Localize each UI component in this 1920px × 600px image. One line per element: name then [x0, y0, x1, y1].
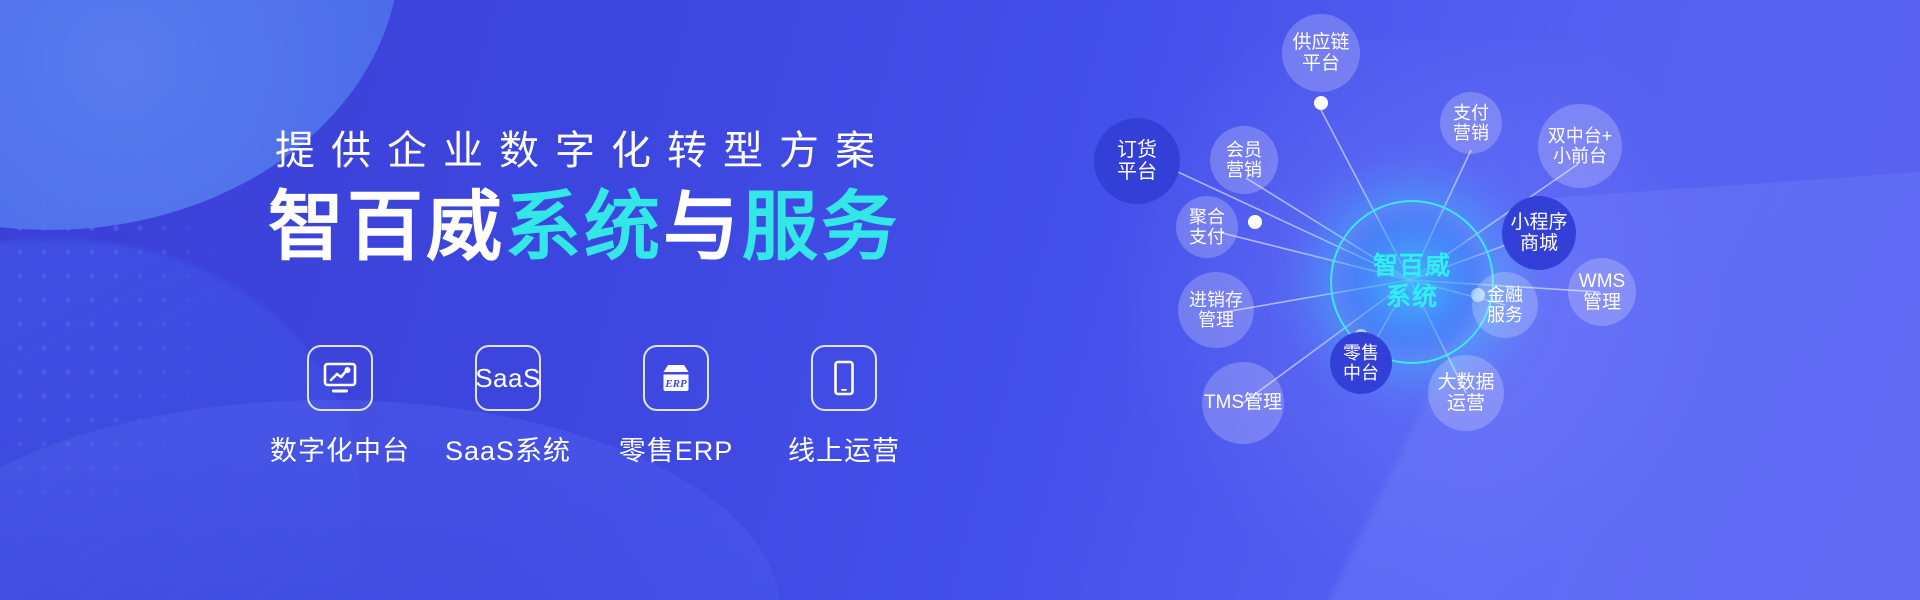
diagram-node[interactable]: 零售中台: [1330, 332, 1392, 394]
diagram-node-label: 小程序商城: [1510, 212, 1567, 255]
feature-icon-box: [307, 345, 373, 411]
saas-text-icon: SaaS: [475, 363, 541, 394]
feature-label: 数字化中台: [270, 429, 410, 468]
feature-label: 线上运营: [788, 429, 900, 468]
chart-monitor-icon: [322, 360, 358, 396]
feature-icon-box: SaaS: [475, 345, 541, 411]
diagram-node[interactable]: 金融服务: [1472, 272, 1538, 338]
banner-subtitle: 提供企业数字化转型方案: [275, 118, 891, 176]
connector-dot-aggregate-pay: [1248, 215, 1262, 229]
feature-item-retail-erp[interactable]: ERP 零售ERP: [626, 345, 726, 475]
diagram-node-label: 双中台+小前台: [1548, 126, 1613, 166]
feature-icon-box: [811, 345, 877, 411]
diagram-node[interactable]: 支付营销: [1440, 92, 1502, 154]
feature-item-online-operation[interactable]: 线上运营: [794, 345, 894, 475]
title-part-2: 系统: [505, 185, 663, 270]
feature-label: 零售ERP: [619, 429, 734, 468]
diagram-node[interactable]: 会员营销: [1210, 126, 1278, 194]
diagram-node[interactable]: 双中台+小前台: [1538, 104, 1622, 188]
svg-text:ERP: ERP: [664, 378, 687, 390]
diagram-node-label: 零售中台: [1343, 343, 1379, 383]
feature-icon-box: ERP: [643, 345, 709, 411]
mobile-phone-icon: [829, 359, 859, 397]
title-part-3: 与: [663, 185, 742, 270]
diagram-node-label: 会员营销: [1226, 140, 1262, 180]
diagram-node-label: WMS管理: [1579, 271, 1625, 314]
diagram-node-label: 供应链平台: [1292, 32, 1349, 75]
title-part-4: 服务: [742, 185, 900, 270]
diagram-node[interactable]: 小程序商城: [1502, 196, 1576, 270]
diagram-node-label: 进销存管理: [1189, 290, 1243, 330]
feature-label: SaaS系统: [445, 429, 571, 468]
diagram-node-label: 订货平台: [1117, 139, 1157, 184]
diagram-node[interactable]: WMS管理: [1568, 258, 1636, 326]
diagram-node-label: 聚合支付: [1189, 207, 1225, 247]
feature-item-digital-midend[interactable]: 数字化中台: [290, 345, 390, 475]
diagram-node[interactable]: 供应链平台: [1282, 14, 1360, 92]
headline-block: 提供企业数字化转型方案 智百威系统与服务 数字化中台 SaaS: [0, 0, 1040, 600]
feature-item-saas[interactable]: SaaS SaaS系统: [458, 345, 558, 475]
center-node-label: 智百威系统: [1373, 251, 1451, 314]
diagram-node[interactable]: 订货平台: [1094, 118, 1180, 204]
connector-dot-supply-chain: [1314, 96, 1328, 110]
erp-box-icon: ERP: [657, 360, 695, 396]
diagram-node[interactable]: 进销存管理: [1178, 272, 1254, 348]
title-part-1: 智百威: [268, 185, 505, 270]
system-ecosystem-diagram: 智百威系统 供应链平台订货平台会员营销支付营销双中台+小前台聚合支付小程序商城W…: [1030, 0, 1920, 600]
diagram-node-label: TMS管理: [1204, 392, 1282, 413]
diagram-node-label: 大数据运营: [1437, 372, 1494, 415]
diagram-node[interactable]: 聚合支付: [1176, 196, 1238, 258]
promo-banner: 提供企业数字化转型方案 智百威系统与服务 数字化中台 SaaS: [0, 0, 1920, 600]
diagram-node[interactable]: TMS管理: [1202, 362, 1284, 444]
diagram-node-label: 金融服务: [1487, 285, 1523, 325]
diagram-node[interactable]: 大数据运营: [1428, 355, 1504, 431]
feature-list: 数字化中台 SaaS SaaS系统 ERP 零售ERP: [290, 345, 970, 475]
diagram-node-label: 支付营销: [1453, 103, 1489, 143]
banner-title: 智百威系统与服务: [268, 190, 900, 266]
